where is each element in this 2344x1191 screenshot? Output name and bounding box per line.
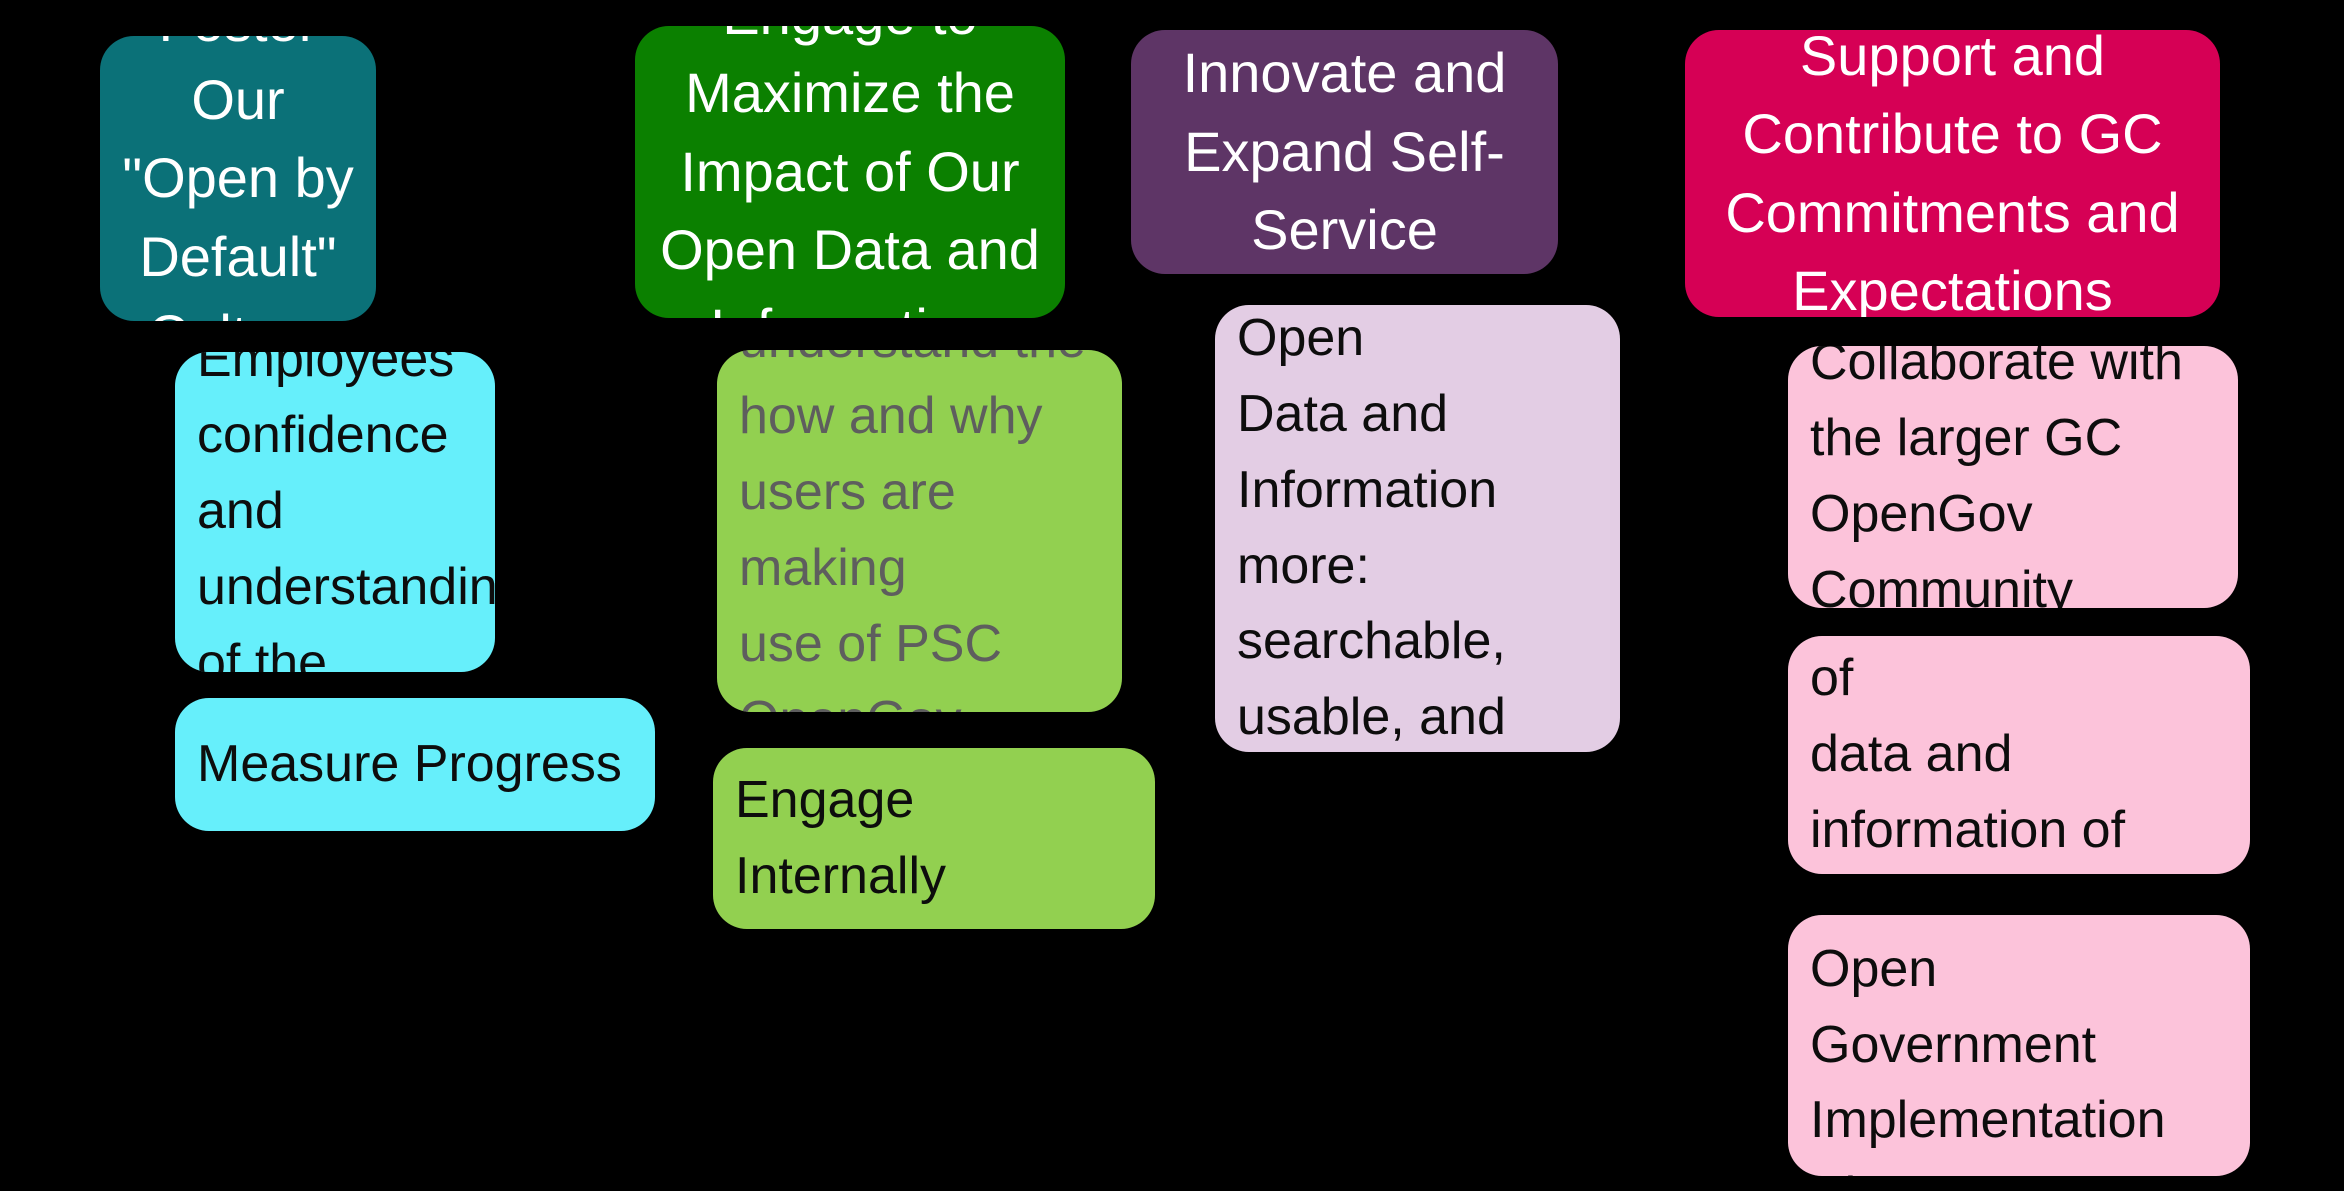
item-label: Measure Progress	[175, 727, 655, 803]
item-plan-next-implementation-plan[interactable]: Plan for the next Open Government Implem…	[1788, 915, 2250, 1176]
diagram-canvas: Foster Our "Open by Default" Culture Inc…	[0, 0, 2344, 1191]
item-work-to-understand-users[interactable]: Work to understand the how and why users…	[717, 350, 1122, 712]
pillar-header-support-gc-commitments[interactable]: Support and Contribute to GC Commitments…	[1685, 30, 2220, 317]
item-measure-progress[interactable]: Measure Progress	[175, 698, 655, 831]
pillar-header-label: Engage to Maximize the Impact of Our Ope…	[635, 26, 1065, 318]
item-label: Work to understand the how and why users…	[717, 350, 1122, 712]
pillar-header-engage-maximize-impact[interactable]: Engage to Maximize the Impact of Our Ope…	[635, 26, 1065, 318]
pillar-header-innovate-self-service[interactable]: Innovate and Expand Self- Service	[1131, 30, 1558, 274]
item-label: Collaborate with the larger GC OpenGov C…	[1788, 346, 2238, 608]
item-engage-internally[interactable]: Engage Internally	[713, 748, 1155, 929]
item-label: Maximize release of data and information…	[1788, 636, 2250, 874]
item-label: Increase PSC Employees' confidence and u…	[175, 352, 495, 672]
item-maximize-release-of-data[interactable]: Maximize release of data and information…	[1788, 636, 2250, 874]
pillar-header-label: Support and Contribute to GC Commitments…	[1685, 30, 2220, 317]
pillar-header-open-by-default[interactable]: Foster Our "Open by Default" Culture	[100, 36, 376, 321]
item-label: Plan for the next Open Government Implem…	[1788, 915, 2250, 1176]
pillar-header-label: Foster Our "Open by Default" Culture	[100, 36, 376, 321]
item-collaborate-gc-opengov-community[interactable]: Collaborate with the larger GC OpenGov C…	[1788, 346, 2238, 608]
item-label: Make PSC Open Data and Information more:…	[1215, 305, 1620, 752]
pillar-header-label: Innovate and Expand Self- Service	[1131, 34, 1558, 269]
item-increase-psc-employees-confidence[interactable]: Increase PSC Employees' confidence and u…	[175, 352, 495, 672]
item-label: Engage Internally	[713, 763, 1155, 915]
item-make-psc-data-searchable[interactable]: Make PSC Open Data and Information more:…	[1215, 305, 1620, 752]
